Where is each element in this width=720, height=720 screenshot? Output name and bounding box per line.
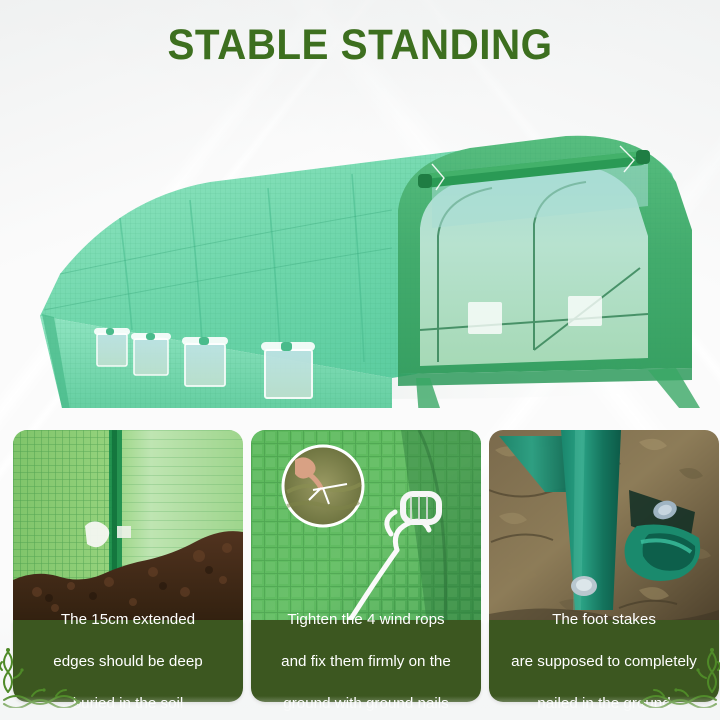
feature-panels: The 15cm extended edges should be deep b… bbox=[0, 430, 720, 705]
photo-greenhouse-edge-buried-in-soil bbox=[13, 430, 243, 625]
infographic-page: STABLE STANDING bbox=[0, 0, 720, 720]
rear-window bbox=[468, 302, 502, 334]
caption-line: Tighten the 4 wind rops bbox=[281, 609, 451, 630]
hero-product-image bbox=[0, 78, 720, 408]
panel-caption: Tighten the 4 wind rops and fix them fir… bbox=[251, 620, 481, 702]
photo-wind-rope-tensioner-on-mesh bbox=[251, 430, 481, 625]
caption-line: and fix them firmly on the bbox=[281, 651, 451, 672]
caption-line: The foot stakes bbox=[511, 609, 697, 630]
rear-window bbox=[568, 296, 602, 326]
photo-foot-stake-nailed-in-ground bbox=[489, 430, 719, 625]
caption-line: The 15cm extended bbox=[53, 609, 202, 630]
inset-hand-pegging-rope bbox=[283, 446, 363, 526]
panel-wind-ropes: Tighten the 4 wind rops and fix them fir… bbox=[251, 430, 481, 702]
page-title: STABLE STANDING bbox=[22, 22, 699, 68]
bottom-shadow bbox=[0, 696, 720, 720]
